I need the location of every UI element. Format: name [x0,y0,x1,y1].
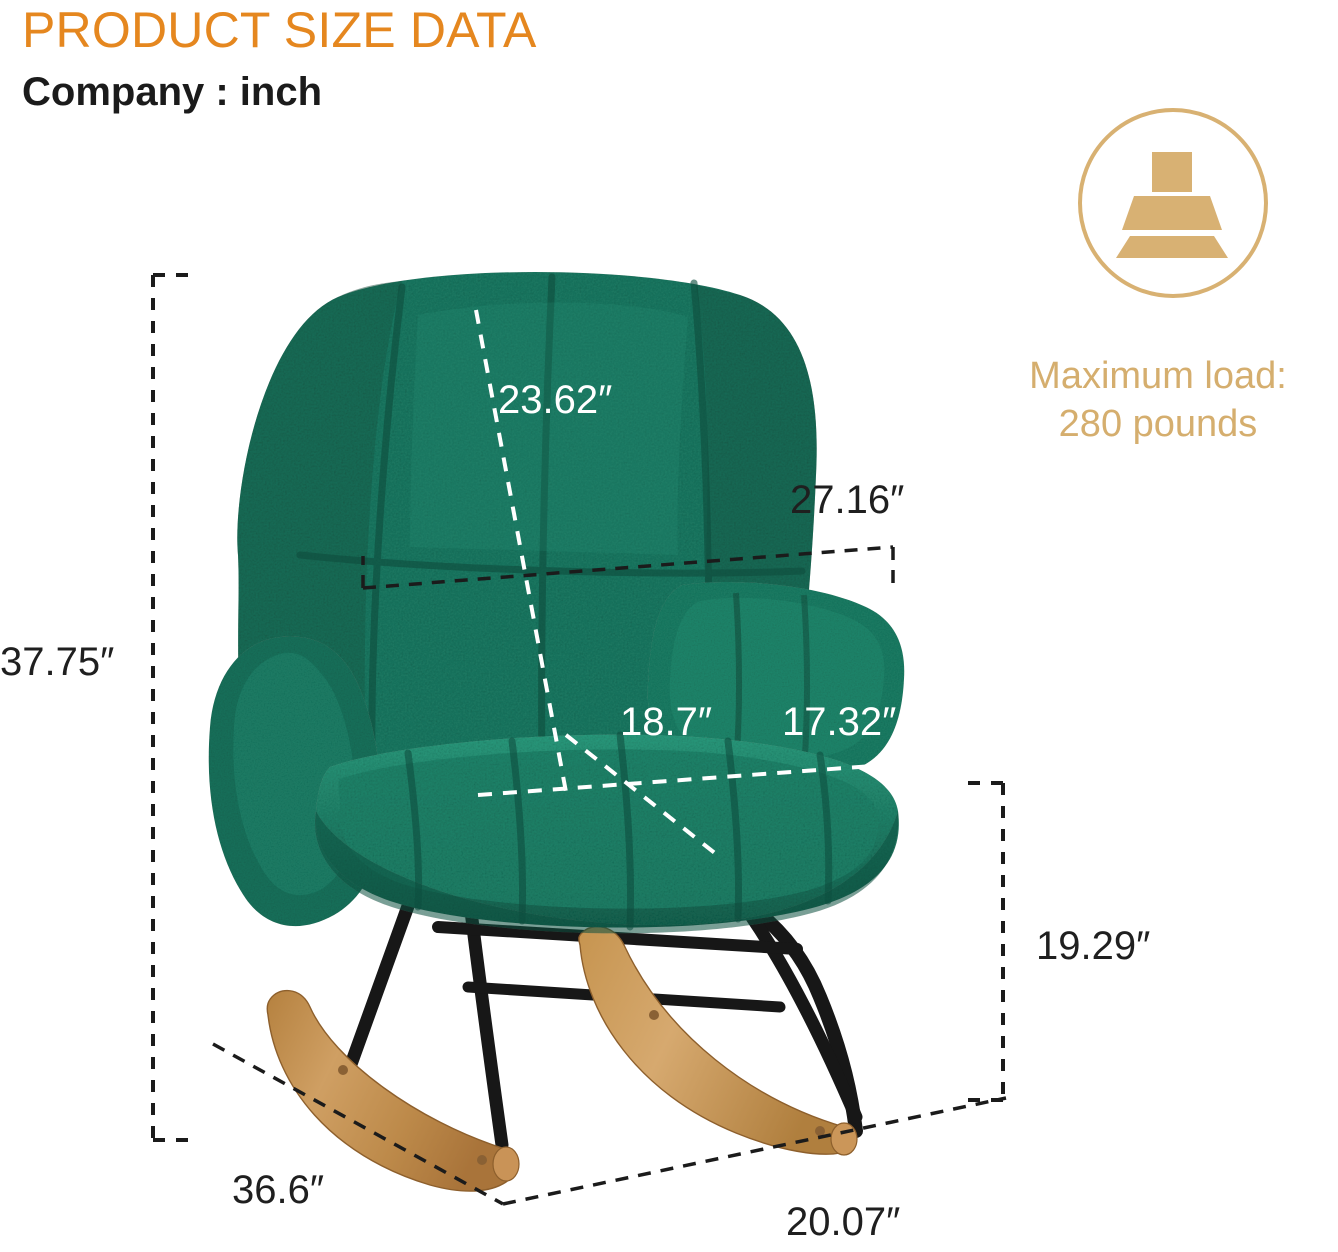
dimension-label-overall-height: 37.75″ [0,640,114,685]
backrest-highlight [410,302,688,555]
dimension-label-seat-height: 19.29″ [1036,924,1150,969]
max-load-text: Maximum load: 280 pounds [988,352,1328,448]
company-unit-label: Company : inch [22,68,322,116]
max-load-badge [1078,108,1268,298]
product-size-infographic: PRODUCT SIZE DATA Company : inch Maximum… [0,0,1338,1252]
weight-stack-icon [1112,150,1234,260]
dimension-label-backrest-height: 23.62″ [498,378,612,423]
dimension-label-base-width: 20.07″ [786,1200,900,1245]
max-load-line2: 280 pounds [988,400,1328,448]
max-load-line1: Maximum load: [988,352,1328,400]
dimension-label-seat-width: 18.7″ [620,700,712,745]
dimension-label-overall-width: 27.16″ [790,478,904,523]
dimension-label-seat-depth: 17.32″ [782,700,896,745]
page-title: PRODUCT SIZE DATA [22,2,537,58]
dimension-label-rocker-length: 36.6″ [232,1168,324,1213]
